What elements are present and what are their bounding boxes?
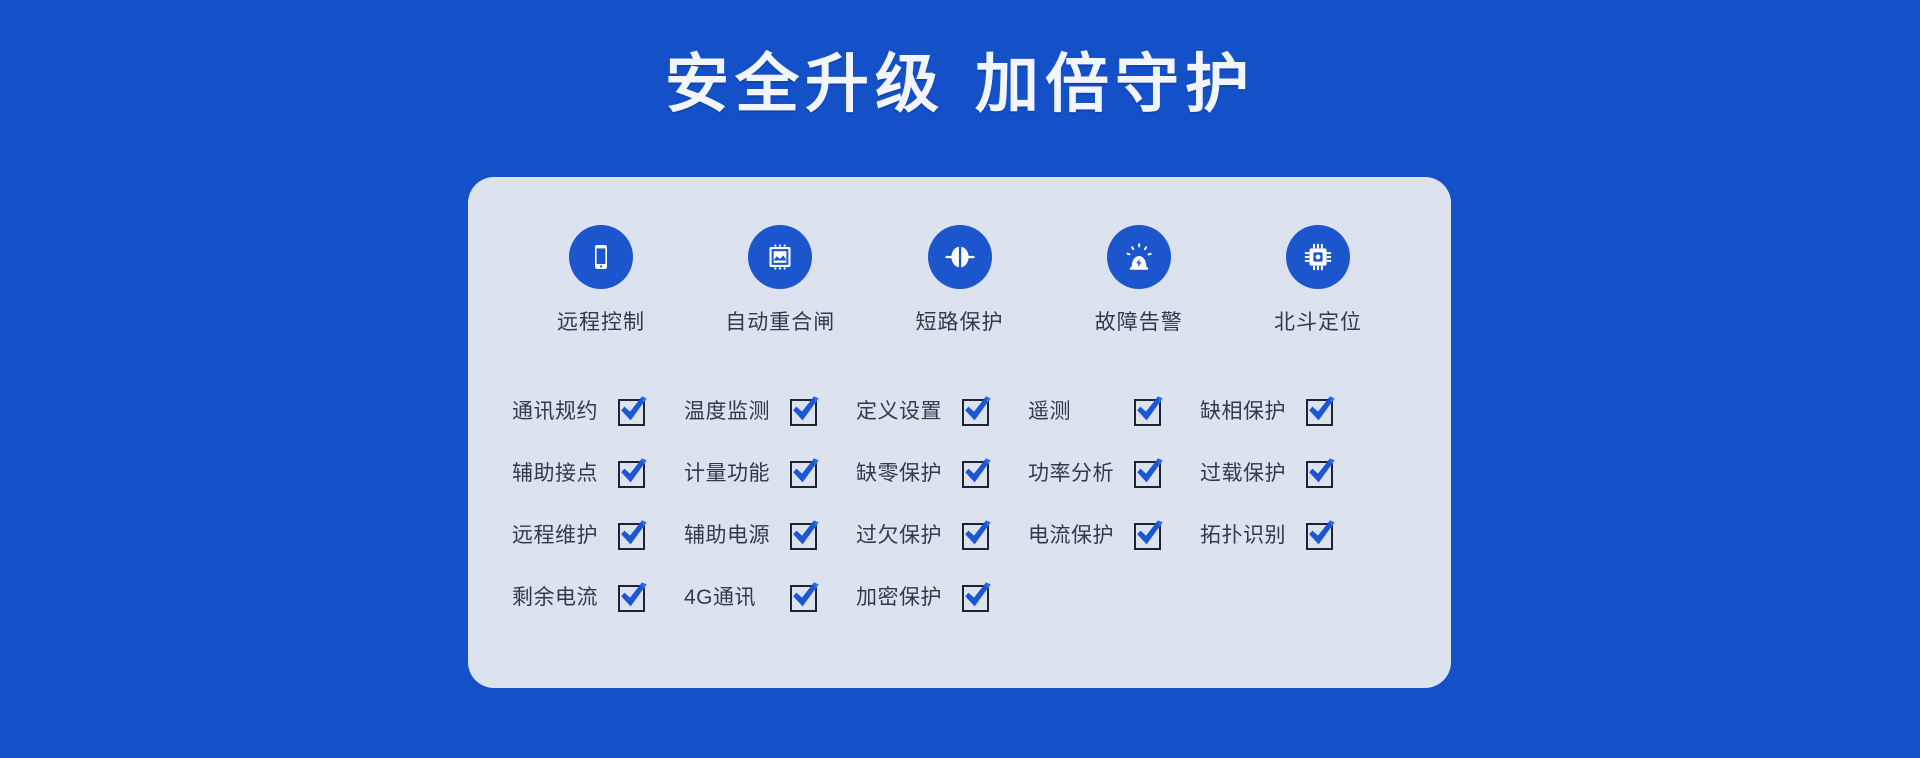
checkbox-checked-icon[interactable] [1132, 455, 1166, 489]
checklist-item[interactable]: 温度监测 [684, 393, 856, 427]
feature-item[interactable]: 自动重合闸 [705, 225, 855, 336]
checklist-item[interactable]: 加密保护 [856, 579, 1028, 613]
checklist-item[interactable]: 4G通讯 [684, 579, 856, 613]
checklist-item[interactable]: 过载保护 [1200, 455, 1372, 489]
checkbox-checked-icon[interactable] [1132, 517, 1166, 551]
checkbox-checked-icon[interactable] [616, 579, 650, 613]
short-circuit-icon [928, 225, 992, 289]
checklist-item-label: 4G通讯 [684, 581, 780, 611]
checklist-item[interactable]: 过欠保护 [856, 517, 1028, 551]
features-card: 远程控制 自动重合闸 短路保护 故障告警 [468, 177, 1451, 688]
checkbox-checked-icon[interactable] [960, 517, 994, 551]
feature-label: 短路保护 [916, 306, 1004, 336]
checklist-grid: 通讯规约 温度监测 定义设置 遥测 缺相保护 辅助接点 计量功能 缺零保护 功率… [512, 379, 1412, 627]
feature-label: 远程控制 [557, 306, 645, 336]
feature-item[interactable]: 故障告警 [1064, 225, 1214, 336]
checklist-item[interactable]: 计量功能 [684, 455, 856, 489]
page-title: 安全升级加倍守护 [0, 44, 1920, 124]
checklist-item[interactable]: 远程维护 [512, 517, 684, 551]
checklist-item-label: 遥测 [1028, 395, 1124, 425]
feature-icon-row: 远程控制 自动重合闸 短路保护 故障告警 [498, 225, 1421, 336]
promo-banner: 安全升级加倍守护 远程控制 自动重合闸 短路保护 [0, 0, 1920, 758]
checkbox-checked-icon[interactable] [1304, 517, 1338, 551]
checkbox-checked-icon[interactable] [788, 455, 822, 489]
checkbox-checked-icon[interactable] [616, 393, 650, 427]
feature-item[interactable]: 短路保护 [885, 225, 1035, 336]
feature-label: 故障告警 [1095, 306, 1183, 336]
page-title-part2: 加倍守护 [975, 48, 1255, 120]
checklist-item[interactable]: 缺零保护 [856, 455, 1028, 489]
checklist-item-label: 加密保护 [856, 581, 952, 611]
feature-label: 自动重合闸 [725, 306, 835, 336]
feature-item[interactable]: 远程控制 [526, 225, 676, 336]
checklist-row: 通讯规约 温度监测 定义设置 遥测 缺相保护 [512, 379, 1412, 441]
checklist-item-label: 拓扑识别 [1200, 519, 1296, 549]
checkbox-checked-icon[interactable] [788, 393, 822, 427]
checklist-item-label: 电流保护 [1028, 519, 1124, 549]
alarm-siren-icon [1107, 225, 1171, 289]
checkbox-checked-icon[interactable] [788, 517, 822, 551]
checkbox-checked-icon[interactable] [1132, 393, 1166, 427]
checklist-item-label: 辅助接点 [512, 457, 608, 487]
feature-label: 北斗定位 [1274, 306, 1362, 336]
page-title-part1: 安全升级 [665, 48, 945, 120]
mobile-phone-icon [569, 225, 633, 289]
feature-item[interactable]: 北斗定位 [1243, 225, 1393, 336]
chip-positioning-icon [1286, 225, 1350, 289]
checklist-row: 辅助接点 计量功能 缺零保护 功率分析 过载保护 [512, 441, 1412, 503]
checklist-item-label: 定义设置 [856, 395, 952, 425]
checkbox-checked-icon[interactable] [788, 579, 822, 613]
checklist-item-label: 缺零保护 [856, 457, 952, 487]
checklist-item-label: 辅助电源 [684, 519, 780, 549]
checklist-item-label: 远程维护 [512, 519, 608, 549]
checklist-item[interactable]: 拓扑识别 [1200, 517, 1372, 551]
checkbox-checked-icon[interactable] [616, 517, 650, 551]
checklist-item[interactable]: 通讯规约 [512, 393, 684, 427]
checklist-item-label: 缺相保护 [1200, 395, 1296, 425]
checkbox-checked-icon[interactable] [1304, 455, 1338, 489]
checklist-item-label: 温度监测 [684, 395, 780, 425]
checkbox-checked-icon[interactable] [960, 579, 994, 613]
checklist-item[interactable]: 剩余电流 [512, 579, 684, 613]
checkbox-checked-icon[interactable] [616, 455, 650, 489]
circuit-breaker-icon [748, 225, 812, 289]
checklist-item-label: 计量功能 [684, 457, 780, 487]
checklist-item-label: 剩余电流 [512, 581, 608, 611]
checklist-row: 远程维护 辅助电源 过欠保护 电流保护 拓扑识别 [512, 503, 1412, 565]
checkbox-checked-icon[interactable] [960, 455, 994, 489]
checklist-item-label: 通讯规约 [512, 395, 608, 425]
checklist-item[interactable]: 遥测 [1028, 393, 1200, 427]
checklist-item[interactable]: 电流保护 [1028, 517, 1200, 551]
checklist-item[interactable]: 功率分析 [1028, 455, 1200, 489]
checklist-item-label: 过载保护 [1200, 457, 1296, 487]
checklist-item[interactable]: 辅助接点 [512, 455, 684, 489]
checklist-item-label: 过欠保护 [856, 519, 952, 549]
checklist-item[interactable]: 辅助电源 [684, 517, 856, 551]
checkbox-checked-icon[interactable] [1304, 393, 1338, 427]
checklist-item[interactable]: 缺相保护 [1200, 393, 1372, 427]
checklist-item[interactable]: 定义设置 [856, 393, 1028, 427]
checkbox-checked-icon[interactable] [960, 393, 994, 427]
checklist-row: 剩余电流 4G通讯 加密保护 [512, 565, 1412, 627]
checklist-item-label: 功率分析 [1028, 457, 1124, 487]
